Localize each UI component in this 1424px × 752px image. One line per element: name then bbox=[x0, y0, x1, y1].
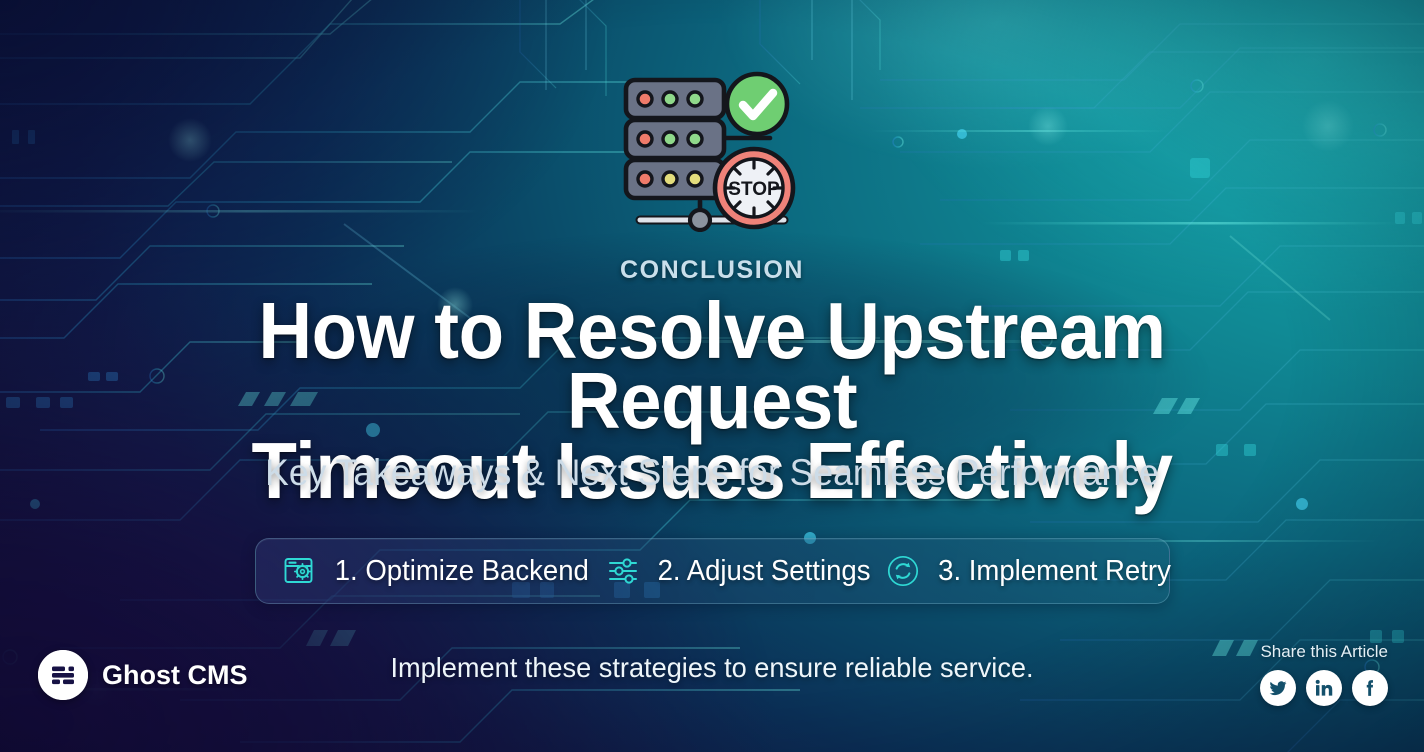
share-button-linkedin[interactable] bbox=[1306, 670, 1342, 706]
step-label: 1. Optimize Backend bbox=[335, 555, 589, 588]
step-label: 2. Adjust Settings bbox=[657, 555, 870, 588]
linkedin-icon bbox=[1314, 678, 1334, 698]
refresh-retry-icon bbox=[886, 554, 920, 588]
step-item-implement-retry[interactable]: 3. Implement Retry bbox=[886, 554, 1177, 588]
stop-label: STOP bbox=[728, 179, 780, 200]
facebook-icon bbox=[1360, 678, 1380, 698]
step-label: 3. Implement Retry bbox=[938, 555, 1171, 588]
sliders-icon bbox=[606, 554, 640, 588]
browser-gear-icon bbox=[282, 554, 316, 588]
stop-stopwatch-icon: STOP bbox=[715, 149, 793, 227]
green-check-badge bbox=[727, 74, 787, 134]
share-section: Share this Article bbox=[1260, 642, 1388, 706]
share-icons bbox=[1260, 670, 1388, 706]
step-item-adjust-settings[interactable]: 2. Adjust Settings bbox=[606, 554, 876, 588]
step-item-optimize-backend[interactable]: 1. Optimize Backend bbox=[282, 554, 596, 588]
eyebrow-label: CONCLUSION bbox=[0, 256, 1424, 285]
share-button-facebook[interactable] bbox=[1352, 670, 1388, 706]
tagline: Implement these strategies to ensure rel… bbox=[21, 652, 1402, 684]
share-button-twitter[interactable] bbox=[1260, 670, 1296, 706]
twitter-icon bbox=[1268, 678, 1288, 698]
steps-bar: 1. Optimize Backend bbox=[255, 538, 1170, 604]
share-label: Share this Article bbox=[1260, 642, 1388, 662]
server-timeout-icon: STOP bbox=[612, 62, 812, 232]
conclusion-card: STOP CONCLUSION How to Resolve Upstream … bbox=[0, 0, 1424, 752]
subtitle: Key Takeaways & Next Steps for Seamless … bbox=[28, 452, 1395, 494]
